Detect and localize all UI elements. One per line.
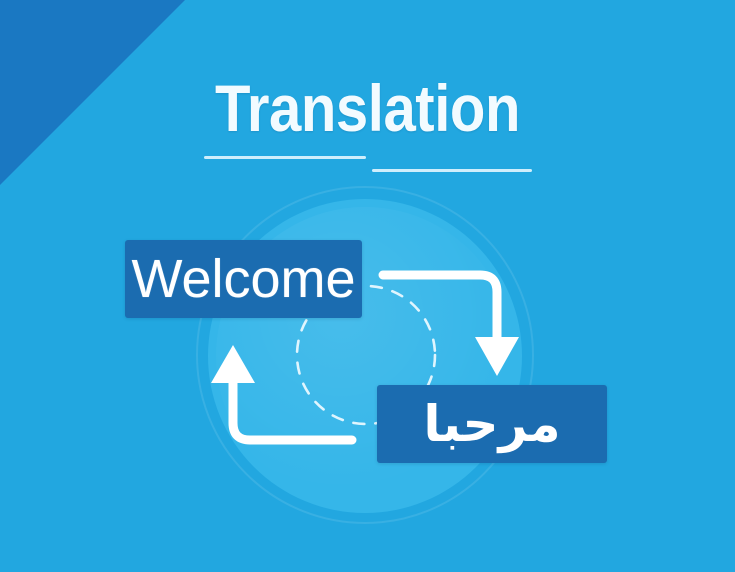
target-word-text: مرحبا xyxy=(423,389,560,459)
title-underline-right xyxy=(372,169,532,172)
title-underline-left xyxy=(204,156,366,159)
translation-graphic: Translation Welcome مرحبا xyxy=(0,0,735,572)
source-word-box[interactable]: Welcome xyxy=(125,240,362,318)
target-word-box[interactable]: مرحبا xyxy=(377,385,607,463)
page-title: Translation xyxy=(44,72,691,144)
source-word-text: Welcome xyxy=(131,249,355,309)
